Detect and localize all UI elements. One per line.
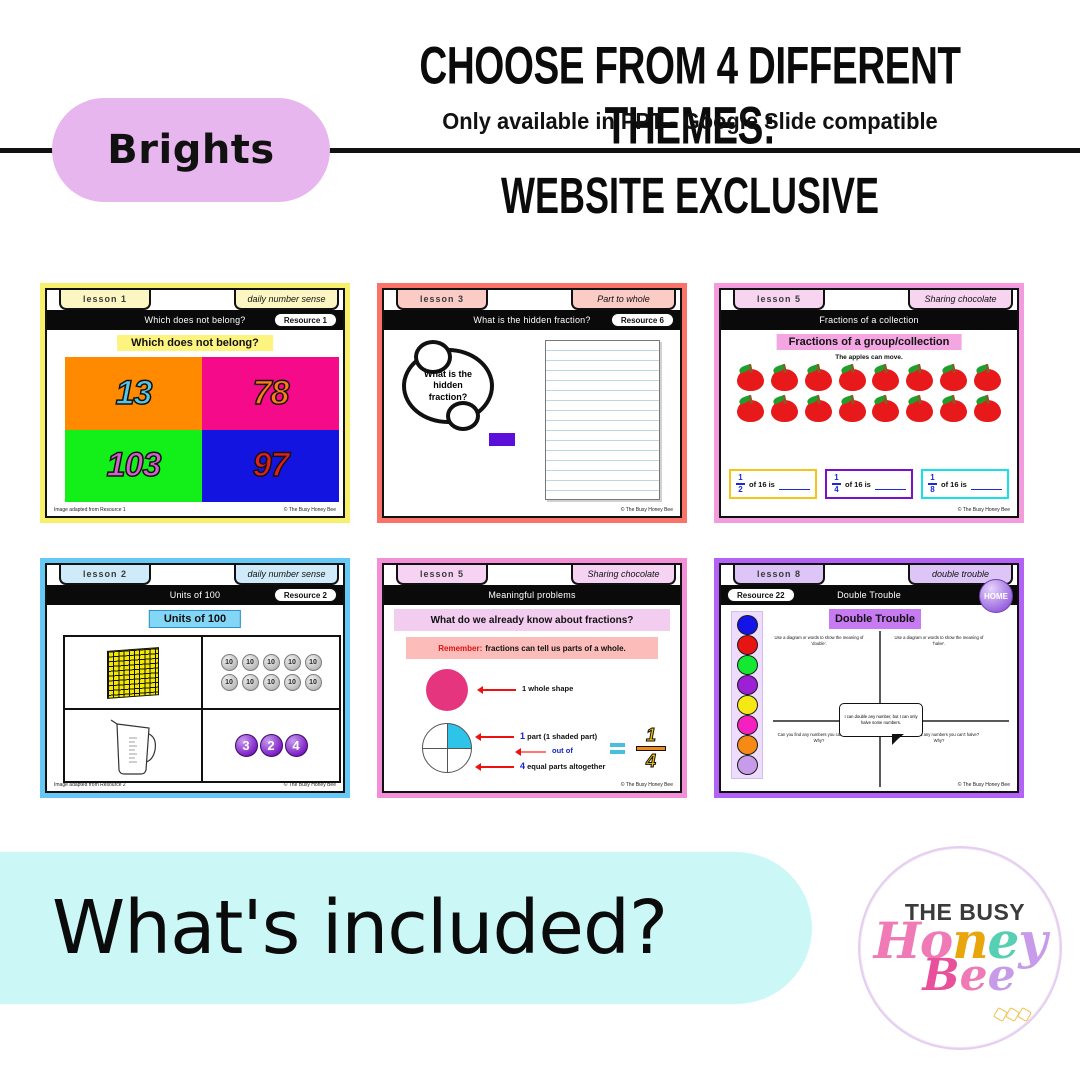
coin-group: 1010101010 1010101010 (221, 654, 322, 691)
quadrant-grid: 13 78 103 97 (65, 357, 339, 502)
coin-row: 1010101010 (221, 674, 322, 691)
equal-parts-label: 4 equal parts altogether (520, 761, 605, 771)
apple-icon[interactable] (737, 364, 764, 391)
slide-body: What do we already know about fractions?… (384, 605, 680, 778)
resource-badge[interactable]: Resource 1 (274, 313, 337, 327)
unit-tab: daily number sense (234, 565, 339, 585)
number-ball: 2 (260, 734, 283, 757)
slide-body: What is the hidden fraction? (384, 330, 680, 503)
coin-icon[interactable]: 10 (263, 674, 280, 691)
color-dot[interactable] (737, 635, 758, 655)
number-ball: 3 (235, 734, 258, 757)
slide-footer: © The Busy Honey Bee (384, 503, 680, 516)
quadrant-number: 103 (107, 446, 161, 485)
slide-bar-title: Meaningful problems (488, 590, 575, 600)
part-label: 1 part (1 shaded part) (520, 731, 597, 741)
slide-thumbnail-6[interactable]: lesson 8 double trouble Resource 22 Doub… (714, 558, 1024, 798)
coin-row: 1010101010 (221, 654, 322, 671)
coin-icon[interactable]: 10 (221, 654, 238, 671)
slide-thumbnail-4[interactable]: lesson 2 daily number sense Units of 100… (40, 558, 350, 798)
arrow-icon (480, 766, 514, 768)
theme-name-label: Brights (107, 130, 274, 170)
slide-footer: © The Busy Honey Bee (721, 503, 1017, 516)
slide-frame: lesson 2 daily number sense Units of 100… (45, 563, 345, 793)
slide-body: Units of 100 1010101010 1010101010 (47, 605, 343, 778)
slide-banner: Fractions of a group/collection (777, 334, 962, 350)
fraction-numerator: 1 (738, 474, 742, 482)
footer-copyright: © The Busy Honey Bee (958, 507, 1010, 513)
footer-copyright: © The Busy Honey Bee (284, 507, 336, 513)
apple-collection (737, 364, 1001, 426)
equals-sign-icon (610, 743, 625, 754)
apple-row (737, 364, 1001, 391)
big-fraction-denominator: 4 (636, 751, 666, 772)
apple-icon[interactable] (872, 364, 899, 391)
fraction-label: of 16 is (845, 480, 871, 489)
thought-bubble: What is the hidden fraction? (402, 348, 494, 424)
big-fraction-numerator: 1 (636, 725, 666, 746)
slide-title-bar: Units of 100 Resource 2 (47, 585, 343, 605)
slide-banner: What do we already know about fractions? (394, 609, 670, 631)
quarter-pie-chart (422, 723, 472, 773)
apple-icon[interactable] (805, 364, 832, 391)
grid-cell-number-balls[interactable]: 3 2 4 (202, 709, 340, 782)
color-dot[interactable] (737, 655, 758, 675)
slide-banner: Double Trouble (829, 609, 921, 629)
answer-blank[interactable] (779, 489, 810, 491)
equal-parts-count: 4 (520, 761, 525, 771)
apple-icon[interactable] (737, 395, 764, 422)
slide-footer: Image adapted from Resource 1 © The Busy… (47, 503, 343, 516)
representation-grid: 1010101010 1010101010 (63, 635, 341, 783)
footer-copyright: © The Busy Honey Bee (621, 782, 673, 788)
fraction-answer-boxes: 1 2 of 16 is 1 4 (729, 469, 1009, 499)
coin-icon[interactable]: 10 (221, 674, 238, 691)
fraction-denominator: 2 (738, 486, 742, 494)
coin-icon[interactable]: 10 (284, 654, 301, 671)
slide-title-bar: Resource 22 Double Trouble (721, 585, 1017, 605)
apple-icon[interactable] (839, 395, 866, 422)
slide-thumbnail-5[interactable]: lesson 5 Sharing chocolate Meaningful pr… (377, 558, 687, 798)
purple-strip[interactable] (489, 433, 515, 446)
quadrant-cell[interactable]: 103 (65, 430, 202, 503)
slide-bar-title: Double Trouble (837, 590, 901, 600)
whole-shape-label: 1 whole shape (522, 684, 573, 693)
resource-badge[interactable]: Resource 2 (274, 588, 337, 602)
grid-cell-coins[interactable]: 1010101010 1010101010 (202, 636, 340, 709)
fraction-denominator: 8 (930, 486, 934, 494)
quadrant-number: 97 (253, 446, 289, 485)
apple-icon[interactable] (940, 364, 967, 391)
unit-tab: Part to whole (571, 290, 676, 310)
slide-frame: lesson 5 Sharing chocolate Fractions of … (719, 288, 1019, 518)
slide-thumbnail-3[interactable]: lesson 5 Sharing chocolate Fractions of … (714, 283, 1024, 523)
unit-tab: Sharing chocolate (571, 565, 676, 585)
coin-icon[interactable]: 10 (305, 674, 322, 691)
part-count: 1 (520, 731, 525, 741)
coin-icon[interactable]: 10 (242, 654, 259, 671)
quadrant-number: 78 (253, 374, 289, 413)
number-ball-group: 3 2 4 (235, 734, 308, 757)
quadrant-prompt-top-left: Use a diagram or words to show the meani… (773, 635, 865, 648)
slide-bar-title: What is the hidden fraction? (473, 315, 590, 325)
slide-frame: lesson 8 double trouble Resource 22 Doub… (719, 563, 1019, 793)
number-ball: 4 (285, 734, 308, 757)
slide-frame: lesson 3 Part to whole What is the hidde… (382, 288, 682, 518)
whats-included-label: What's included? (52, 885, 667, 971)
apple-icon[interactable] (974, 395, 1001, 422)
quadrant-cell[interactable]: 13 (65, 357, 202, 430)
website-exclusive-label: WEBSITE EXCLUSIVE (375, 168, 1005, 226)
fraction-numerator: 1 (930, 474, 934, 482)
color-dot[interactable] (737, 735, 758, 755)
apple-icon[interactable] (906, 364, 933, 391)
apple-row (737, 395, 1001, 422)
big-fraction: 1 4 (636, 725, 666, 772)
slide-preview-grid: lesson 1 daily number sense Which does n… (40, 283, 1045, 813)
slide-bar-title: Which does not belong? (145, 315, 246, 325)
slide-title-bar: Meaningful problems (384, 585, 680, 605)
slide-footer: © The Busy Honey Bee (384, 778, 680, 791)
coin-icon[interactable]: 10 (263, 654, 280, 671)
slide-frame: lesson 1 daily number sense Which does n… (45, 288, 345, 518)
color-dot[interactable] (737, 715, 758, 735)
slide-title-bar: Which does not belong? Resource 1 (47, 310, 343, 330)
apple-icon[interactable] (771, 364, 798, 391)
apple-icon[interactable] (839, 364, 866, 391)
answer-blank[interactable] (971, 489, 1002, 491)
unit-tab: daily number sense (234, 290, 339, 310)
equal-parts-text: equal parts altogether (527, 762, 605, 771)
slide-title-bar: Fractions of a collection (721, 310, 1017, 330)
remember-label: Remember: (438, 644, 482, 653)
fraction-glyph: 1 8 (928, 474, 937, 494)
color-palette-strip (731, 611, 763, 779)
slide-thumbnail-2[interactable]: lesson 3 Part to whole What is the hidde… (377, 283, 687, 523)
grid-cell-base-ten[interactable] (64, 636, 202, 709)
slide-note: The apples can move. (721, 354, 1017, 361)
slide-thumbnail-1[interactable]: lesson 1 daily number sense Which does n… (40, 283, 350, 523)
theme-name-pill: Brights (52, 98, 330, 202)
lesson-tab: lesson 3 (396, 290, 488, 310)
slide-banner: Which does not belong? (117, 335, 273, 351)
quadrant-cell[interactable]: 78 (202, 357, 339, 430)
slide-banner: Units of 100 (149, 610, 241, 628)
fraction-numerator: 1 (834, 474, 838, 482)
apple-icon[interactable] (906, 395, 933, 422)
quadrant-prompt-top-right: Use a diagram or words to show the meani… (893, 635, 985, 648)
lesson-tab: lesson 5 (396, 565, 488, 585)
fraction-label: of 16 is (749, 480, 775, 489)
color-dot[interactable] (737, 695, 758, 715)
whole-shape-circle (426, 669, 468, 711)
coin-icon[interactable]: 10 (305, 654, 322, 671)
resource-badge[interactable]: Resource 6 (611, 313, 674, 327)
footer-attribution: Image adapted from Resource 2 (54, 782, 126, 788)
lesson-tab: lesson 1 (59, 290, 151, 310)
slide-title-bar: What is the hidden fraction? Resource 6 (384, 310, 680, 330)
lesson-tab: lesson 2 (59, 565, 151, 585)
remember-callout: Remember: fractions can tell us parts of… (406, 637, 658, 659)
apple-icon[interactable] (872, 395, 899, 422)
apple-icon[interactable] (974, 364, 1001, 391)
lesson-tab: lesson 5 (733, 290, 825, 310)
home-button[interactable]: HOME (979, 579, 1013, 613)
lesson-tab: lesson 8 (733, 565, 825, 585)
brand-logo: THE BUSY Honey Bee (858, 846, 1062, 1050)
slide-footer: © The Busy Honey Bee (721, 778, 1017, 791)
fraction-box[interactable]: 1 4 of 16 is (825, 469, 913, 499)
part-text: part (1 shaded part) (527, 732, 597, 741)
quadrant-cell[interactable]: 97 (202, 430, 339, 503)
divider-line-icon (520, 751, 546, 753)
apple-icon[interactable] (940, 395, 967, 422)
fraction-box[interactable]: 1 2 of 16 is (729, 469, 817, 499)
poster-page: Brights CHOOSE FROM 4 DIFFERENT THEMES: … (0, 0, 1080, 1080)
color-dot[interactable] (737, 675, 758, 695)
fraction-label: of 16 is (941, 480, 967, 489)
slide-body: Fractions of a group/collection The appl… (721, 330, 1017, 503)
color-dot[interactable] (737, 755, 758, 775)
fraction-glyph: 1 4 (832, 474, 841, 494)
footer-attribution: Image adapted from Resource 1 (54, 507, 126, 513)
logo-bee-text: Bee (922, 954, 1015, 998)
measuring-jug-icon (109, 716, 157, 776)
speech-bubble: I can double any number, but I can only … (839, 703, 923, 737)
coin-icon[interactable]: 10 (284, 674, 301, 691)
slide-frame: lesson 5 Sharing chocolate Meaningful pr… (382, 563, 682, 793)
unit-tab: Sharing chocolate (908, 290, 1013, 310)
color-dot[interactable] (737, 615, 758, 635)
slide-footer: Image adapted from Resource 2 © The Busy… (47, 778, 343, 791)
header-subtitle: Only available in PPT - Google Slide com… (358, 108, 1023, 135)
hundreds-flat-icon (107, 647, 159, 699)
footer-copyright: © The Busy Honey Bee (958, 782, 1010, 788)
fraction-box[interactable]: 1 8 of 16 is (921, 469, 1009, 499)
lined-paper (545, 340, 660, 500)
slide-body: Which does not belong? 13 78 103 97 (47, 330, 343, 503)
slide-bar-title: Fractions of a collection (819, 315, 919, 325)
footer-copyright: © The Busy Honey Bee (621, 507, 673, 513)
honeycomb-icon (995, 1009, 1030, 1020)
whats-included-banner: What's included? (0, 852, 812, 1004)
slide-body: Double Trouble Use a diagram or words to… (721, 605, 1017, 778)
remember-text: fractions can tell us parts of a whole. (485, 644, 625, 653)
fraction-glyph: 1 2 (736, 474, 745, 494)
header-section: Brights CHOOSE FROM 4 DIFFERENT THEMES: … (0, 0, 1080, 250)
coin-icon[interactable]: 10 (242, 674, 259, 691)
slide-bar-title: Units of 100 (170, 590, 220, 600)
out-of-label: out of (552, 746, 573, 755)
grid-cell-jug[interactable] (64, 709, 202, 782)
resource-badge[interactable]: Resource 22 (727, 588, 795, 602)
arrow-icon (482, 689, 516, 691)
apple-icon[interactable] (805, 395, 832, 422)
fraction-denominator: 4 (834, 486, 838, 494)
apple-icon[interactable] (771, 395, 798, 422)
footer-copyright: © The Busy Honey Bee (284, 782, 336, 788)
quadrant-number: 13 (116, 374, 152, 413)
answer-blank[interactable] (875, 489, 906, 491)
page-title: CHOOSE FROM 4 DIFFERENT THEMES: (368, 36, 1012, 156)
arrow-icon (480, 736, 514, 738)
